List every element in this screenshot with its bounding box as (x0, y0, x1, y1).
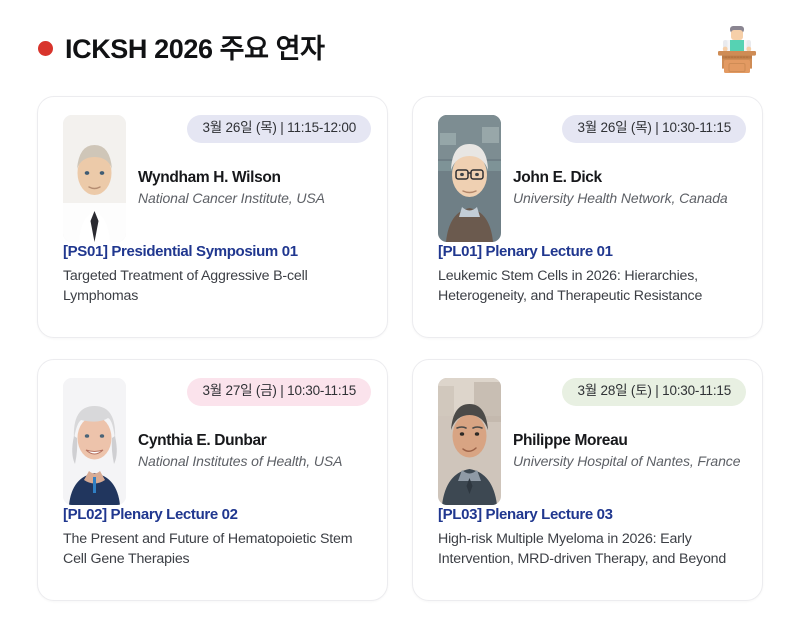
speaker-card-top: 3월 26일 (목) | 10:30-11:15 John E. Dick Un… (413, 97, 762, 243)
speaker-photo (438, 115, 501, 242)
speaker-card-topright: 3월 26일 (목) | 11:15-12:00 Wyndham H. Wils… (126, 115, 371, 243)
date-badge: 3월 26일 (목) | 10:30-11:15 (562, 115, 746, 143)
speaker-card-top: 3월 28일 (토) | 10:30-11:15 Philippe Moreau… (413, 360, 762, 506)
speaker-affiliation: National Institutes of Health, USA (138, 452, 371, 470)
page-title: ICKSH 2026 주요 연자 (65, 27, 325, 66)
speaker-card-top: 3월 27일 (금) | 10:30-11:15 Cynthia E. Dunb… (38, 360, 387, 506)
speaker-info: John E. Dick University Health Network, … (511, 169, 746, 208)
speaker-card-body: [PL02] Plenary Lecture 02 The Present an… (38, 506, 387, 569)
speaker-card-topright: 3월 26일 (목) | 10:30-11:15 John E. Dick Un… (501, 115, 746, 243)
speaker-affiliation: National Cancer Institute, USA (138, 189, 371, 207)
date-badge: 3월 27일 (금) | 10:30-11:15 (187, 378, 371, 406)
date-badge: 3월 26일 (목) | 11:15-12:00 (187, 115, 371, 143)
speaker-card[interactable]: 3월 27일 (금) | 10:30-11:15 Cynthia E. Dunb… (37, 359, 388, 601)
speaker-affiliation: University Hospital of Nantes, France (513, 452, 746, 470)
speaker-podium-icon (708, 18, 766, 76)
page-header-left: ICKSH 2026 주요 연자 (38, 27, 325, 66)
page-root: ICKSH 2026 주요 연자 (0, 0, 800, 637)
speaker-name: Cynthia E. Dunbar (138, 432, 371, 451)
speaker-card[interactable]: 3월 26일 (목) | 10:30-11:15 John E. Dick Un… (412, 96, 763, 338)
speaker-name: Philippe Moreau (513, 432, 746, 451)
speaker-card-topright: 3월 27일 (금) | 10:30-11:15 Cynthia E. Dunb… (126, 378, 371, 506)
session-title: Leukemic Stem Cells in 2026: Hierarchies… (438, 266, 744, 306)
speaker-info: Cynthia E. Dunbar National Institutes of… (136, 432, 371, 471)
speaker-photo (63, 378, 126, 505)
speaker-card[interactable]: 3월 28일 (토) | 10:30-11:15 Philippe Moreau… (412, 359, 763, 601)
speaker-card-body: [PS01] Presidential Symposium 01 Targete… (38, 243, 387, 306)
red-dot-icon (38, 41, 53, 56)
speaker-affiliation: University Health Network, Canada (513, 189, 746, 207)
speaker-photo (63, 115, 126, 242)
session-title: The Present and Future of Hematopoietic … (63, 529, 369, 569)
speaker-photo (438, 378, 501, 505)
date-badge: 3월 28일 (토) | 10:30-11:15 (562, 378, 746, 406)
speaker-card-top: 3월 26일 (목) | 11:15-12:00 Wyndham H. Wils… (38, 97, 387, 243)
session-code[interactable]: [PL02] Plenary Lecture 02 (63, 506, 369, 525)
speaker-info: Philippe Moreau University Hospital of N… (511, 432, 746, 471)
session-title: Targeted Treatment of Aggressive B-cell … (63, 266, 369, 306)
session-code[interactable]: [PL03] Plenary Lecture 03 (438, 506, 744, 525)
speaker-card-topright: 3월 28일 (토) | 10:30-11:15 Philippe Moreau… (501, 378, 746, 506)
speaker-info: Wyndham H. Wilson National Cancer Instit… (136, 169, 371, 208)
speaker-name: Wyndham H. Wilson (138, 169, 371, 188)
session-code[interactable]: [PS01] Presidential Symposium 01 (63, 243, 369, 262)
speaker-card-body: [PL03] Plenary Lecture 03 High-risk Mult… (413, 506, 762, 569)
speaker-card[interactable]: 3월 26일 (목) | 11:15-12:00 Wyndham H. Wils… (37, 96, 388, 338)
page-header: ICKSH 2026 주요 연자 (0, 0, 800, 92)
session-code[interactable]: [PL01] Plenary Lecture 01 (438, 243, 744, 262)
speaker-name: John E. Dick (513, 169, 746, 188)
speaker-card-body: [PL01] Plenary Lecture 01 Leukemic Stem … (413, 243, 762, 306)
session-title: High-risk Multiple Myeloma in 2026: Earl… (438, 529, 744, 569)
speaker-card-grid: 3월 26일 (목) | 11:15-12:00 Wyndham H. Wils… (37, 96, 763, 601)
